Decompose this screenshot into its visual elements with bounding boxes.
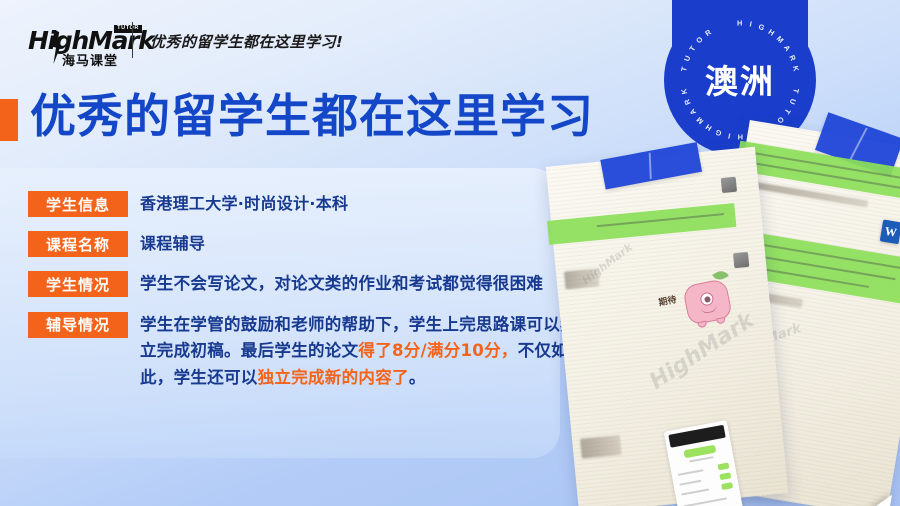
tutoring-highlight-score: 得了8分/满分10分， [358,341,517,360]
row-tag-student-situation: 学生情况 [28,271,128,297]
proof-paper-left: HighMark 期待 [546,147,788,506]
embedded-chat-screenshot [664,420,744,506]
avatar [721,177,737,193]
poster-canvas: HighMark TUTOR 海马课堂 优秀的留学生都在这里学习! HIGHMA… [0,0,900,506]
brand-slogan: 优秀的留学生都在这里学习! [150,31,343,52]
tutoring-text-part-3: 。 [409,368,426,387]
mascot-label: 期待 [657,292,677,308]
headline-accent-bar [0,99,18,141]
header-divider [132,22,133,58]
brand-logo[interactable]: HighMark TUTOR 海马课堂 [28,26,140,68]
blurred-text-line [580,435,622,459]
info-row: 学生信息 香港理工大学·时尚设计·本科 [28,191,588,217]
tape-strip-icon [600,142,702,189]
blurred-text-line [564,268,600,289]
info-row: 学生情况 学生不会写论文，对论文类的作业和考试都觉得很困难 [28,271,588,298]
row-value-tutoring-result: 学生在学管的鼓励和老师的帮助下，学生上完思路课可以独立完成初稿。最后学生的论文得… [140,312,588,392]
avatar [733,252,749,268]
row-value-course-name: 课程辅导 [140,231,205,257]
word-file-icon: W [880,219,900,244]
logo-mark: HighMark TUTOR 海马课堂 [28,26,140,68]
info-row: 课程名称 课程辅导 [28,231,588,257]
logo-chinese-name: 海马课堂 [62,50,118,69]
row-value-student-situation: 学生不会写论文，对论文类的作业和考试都觉得很困难 [140,271,543,298]
row-tag-course-name: 课程名称 [28,231,128,257]
mascot-sticker-icon: 期待 [682,278,733,326]
page-curl [862,490,892,506]
tutoring-highlight-outcome: 独立完成新的内容了 [258,368,409,387]
proof-screenshots-group: W HighMark HighMark 期待 [540,128,900,506]
info-row-list: 学生信息 香港理工大学·时尚设计·本科 课程名称 课程辅导 学生情况 学生不会写… [28,191,588,392]
page-title: 优秀的留学生都在这里学习 [30,92,594,140]
logo-tutor-badge: TUTOR [114,25,142,33]
row-value-student-info: 香港理工大学·时尚设计·本科 [140,191,348,217]
highlight-band [547,203,736,245]
info-row: 辅导情况 学生在学管的鼓励和老师的帮助下，学生上完思路课可以独立完成初稿。最后学… [28,312,588,392]
row-tag-student-info: 学生信息 [28,191,128,217]
header-bar: HighMark TUTOR 海马课堂 优秀的留学生都在这里学习! HIGHMA… [0,0,900,88]
country-badge-label: 澳洲 [664,55,816,103]
row-tag-tutoring-result: 辅导情况 [28,312,128,338]
